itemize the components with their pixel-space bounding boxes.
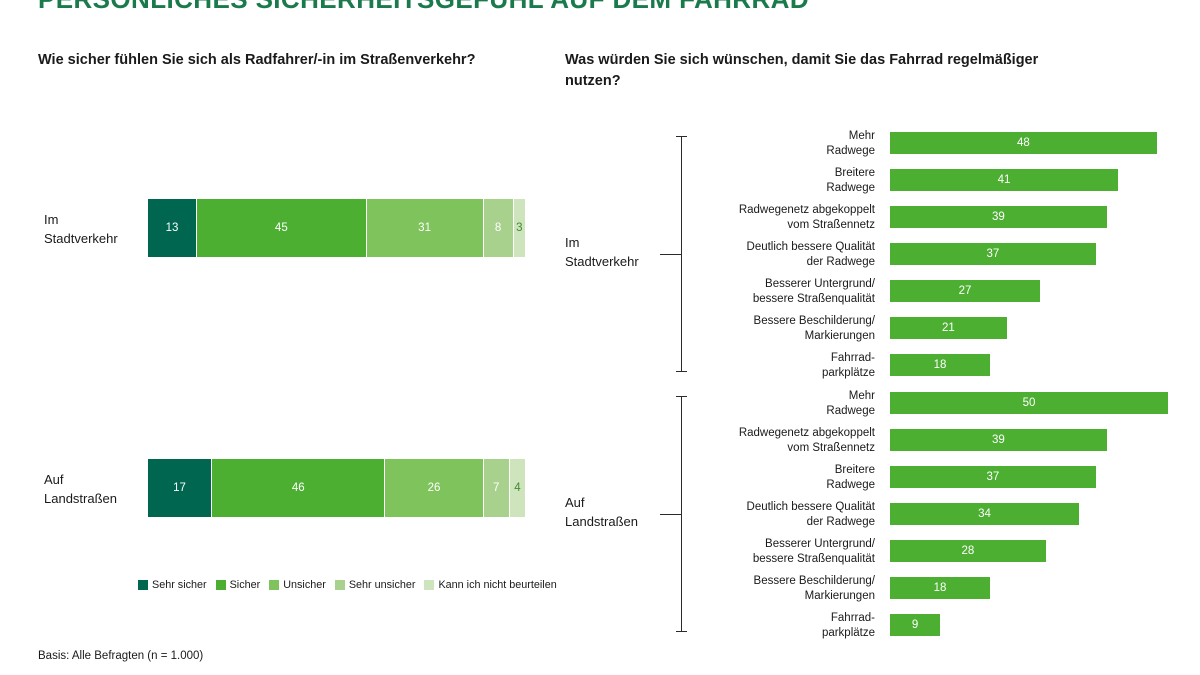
hbar-value: 9 <box>912 619 918 631</box>
hbar-row: 27 <box>890 280 1196 302</box>
hbar-value: 37 <box>986 471 999 483</box>
hbar-value: 48 <box>1017 137 1030 149</box>
stacked-segment: 45 <box>197 199 367 257</box>
hbar-row: 21 <box>890 317 1196 339</box>
right-panel-question: Was würden Sie sich wünschen, damit Sie … <box>565 50 1065 93</box>
hbar-fill: 37 <box>890 243 1096 265</box>
hbar-row: 28 <box>890 540 1196 562</box>
segment-value: 8 <box>495 222 501 234</box>
bracket-tick <box>660 514 682 515</box>
hbar-value: 37 <box>986 248 999 260</box>
segment-value: 46 <box>292 482 305 494</box>
hbar-row-label: Mehr Radwege <box>685 389 875 418</box>
segment-value: 13 <box>166 222 179 234</box>
stacked-segment: 17 <box>148 459 212 517</box>
stacked-segment: 46 <box>212 459 385 517</box>
hbar-value: 18 <box>934 359 947 371</box>
legend-label: Kann ich nicht beurteilen <box>438 579 556 591</box>
legend-label: Sehr unsicher <box>349 579 416 591</box>
legend-item: Kann ich nicht beurteilen <box>424 579 556 591</box>
legend-swatch-icon <box>335 580 345 590</box>
hbar-row-label: Radwegenetz abgekoppelt vom Straßennetz <box>685 426 875 455</box>
hbar-row-label: Bessere Beschilderung/ Markierungen <box>685 314 875 343</box>
hbar-row-label: Bessere Beschilderung/ Markierungen <box>685 574 875 603</box>
hbar-group-label: Auf Landstraßen <box>565 494 638 532</box>
hbar-fill: 21 <box>890 317 1007 339</box>
stacked-group-label: Im Stadtverkehr <box>44 211 118 249</box>
legend-swatch-icon <box>216 580 226 590</box>
stacked-segment: 31 <box>367 199 484 257</box>
hbar-value: 41 <box>998 174 1011 186</box>
hbar-row-label: Deutlich bessere Qualität der Radwege <box>685 240 875 269</box>
hbar-fill: 28 <box>890 540 1046 562</box>
segment-value: 17 <box>173 482 186 494</box>
stacked-bar: 13453183 <box>148 199 525 257</box>
hbar-row-label: Besserer Untergrund/ bessere Straßenqual… <box>685 277 875 306</box>
segment-value: 31 <box>418 222 431 234</box>
hbar-row: 18 <box>890 354 1196 376</box>
legend: Sehr sicherSicherUnsicherSehr unsicherKa… <box>138 579 557 591</box>
legend-item: Unsicher <box>269 579 326 591</box>
hbar-value: 39 <box>992 434 1005 446</box>
hbar-row: 50 <box>890 392 1196 414</box>
hbar-row: 37 <box>890 466 1196 488</box>
stacked-segment: 26 <box>385 459 483 517</box>
hbar-row: 39 <box>890 429 1196 451</box>
hbar-value: 27 <box>959 285 972 297</box>
hbar-row: 48 <box>890 132 1196 154</box>
hbar-row: 41 <box>890 169 1196 191</box>
basis-footnote: Basis: Alle Befragten (n = 1.000) <box>38 650 203 662</box>
segment-value: 4 <box>514 482 520 494</box>
bracket-tick <box>660 254 682 255</box>
left-panel-question: Wie sicher fühlen Sie sich als Radfahrer… <box>38 50 518 71</box>
segment-value: 7 <box>493 482 499 494</box>
stacked-segment: 13 <box>148 199 197 257</box>
hbar-fill: 41 <box>890 169 1118 191</box>
hbar-row-label: Fahrrad- parkplätze <box>685 351 875 380</box>
hbar-group-label: Im Stadtverkehr <box>565 234 639 272</box>
page-title: PERSÖNLICHES SICHERHEITSGEFÜHL AUF DEM F… <box>38 0 809 15</box>
hbar-fill: 18 <box>890 354 990 376</box>
hbar-row-label: Deutlich bessere Qualität der Radwege <box>685 500 875 529</box>
legend-swatch-icon <box>138 580 148 590</box>
hbar-fill: 39 <box>890 206 1107 228</box>
hbar-value: 34 <box>978 508 991 520</box>
hbar-row: 9 <box>890 614 1196 636</box>
infographic-page: PERSÖNLICHES SICHERHEITSGEFÜHL AUF DEM F… <box>0 0 1200 675</box>
hbar-row-label: Mehr Radwege <box>685 129 875 158</box>
hbar-row: 37 <box>890 243 1196 265</box>
stacked-segment: 7 <box>484 459 510 517</box>
segment-value: 45 <box>275 222 288 234</box>
hbar-row: 34 <box>890 503 1196 525</box>
stacked-segment: 4 <box>510 459 525 517</box>
legend-item: Sicher <box>216 579 261 591</box>
hbar-row-label: Radwegenetz abgekoppelt vom Straßennetz <box>685 203 875 232</box>
hbar-value: 21 <box>942 322 955 334</box>
segment-value: 26 <box>428 482 441 494</box>
legend-label: Unsicher <box>283 579 326 591</box>
hbar-value: 28 <box>961 545 974 557</box>
hbar-fill: 9 <box>890 614 940 636</box>
hbar-row-label: Besserer Untergrund/ bessere Straßenqual… <box>685 537 875 566</box>
hbar-fill: 39 <box>890 429 1107 451</box>
hbar-fill: 34 <box>890 503 1079 525</box>
hbar-fill: 27 <box>890 280 1040 302</box>
hbar-row-label: Fahrrad- parkplätze <box>685 611 875 640</box>
legend-label: Sicher <box>230 579 261 591</box>
legend-swatch-icon <box>424 580 434 590</box>
hbar-value: 50 <box>1023 397 1036 409</box>
hbar-fill: 50 <box>890 392 1168 414</box>
legend-label: Sehr sicher <box>152 579 207 591</box>
legend-item: Sehr unsicher <box>335 579 416 591</box>
hbar-value: 39 <box>992 211 1005 223</box>
hbar-row-label: Breitere Radwege <box>685 166 875 195</box>
hbar-fill: 48 <box>890 132 1157 154</box>
stacked-segment: 8 <box>484 199 514 257</box>
hbar-fill: 37 <box>890 466 1096 488</box>
hbar-row: 39 <box>890 206 1196 228</box>
legend-item: Sehr sicher <box>138 579 207 591</box>
hbar-fill: 18 <box>890 577 990 599</box>
stacked-group-label: Auf Landstraßen <box>44 471 117 509</box>
stacked-bar: 17462674 <box>148 459 525 517</box>
legend-swatch-icon <box>269 580 279 590</box>
stacked-segment: 3 <box>514 199 525 257</box>
segment-value: 3 <box>516 222 522 234</box>
hbar-value: 18 <box>934 582 947 594</box>
hbar-row: 18 <box>890 577 1196 599</box>
hbar-row-label: Breitere Radwege <box>685 463 875 492</box>
